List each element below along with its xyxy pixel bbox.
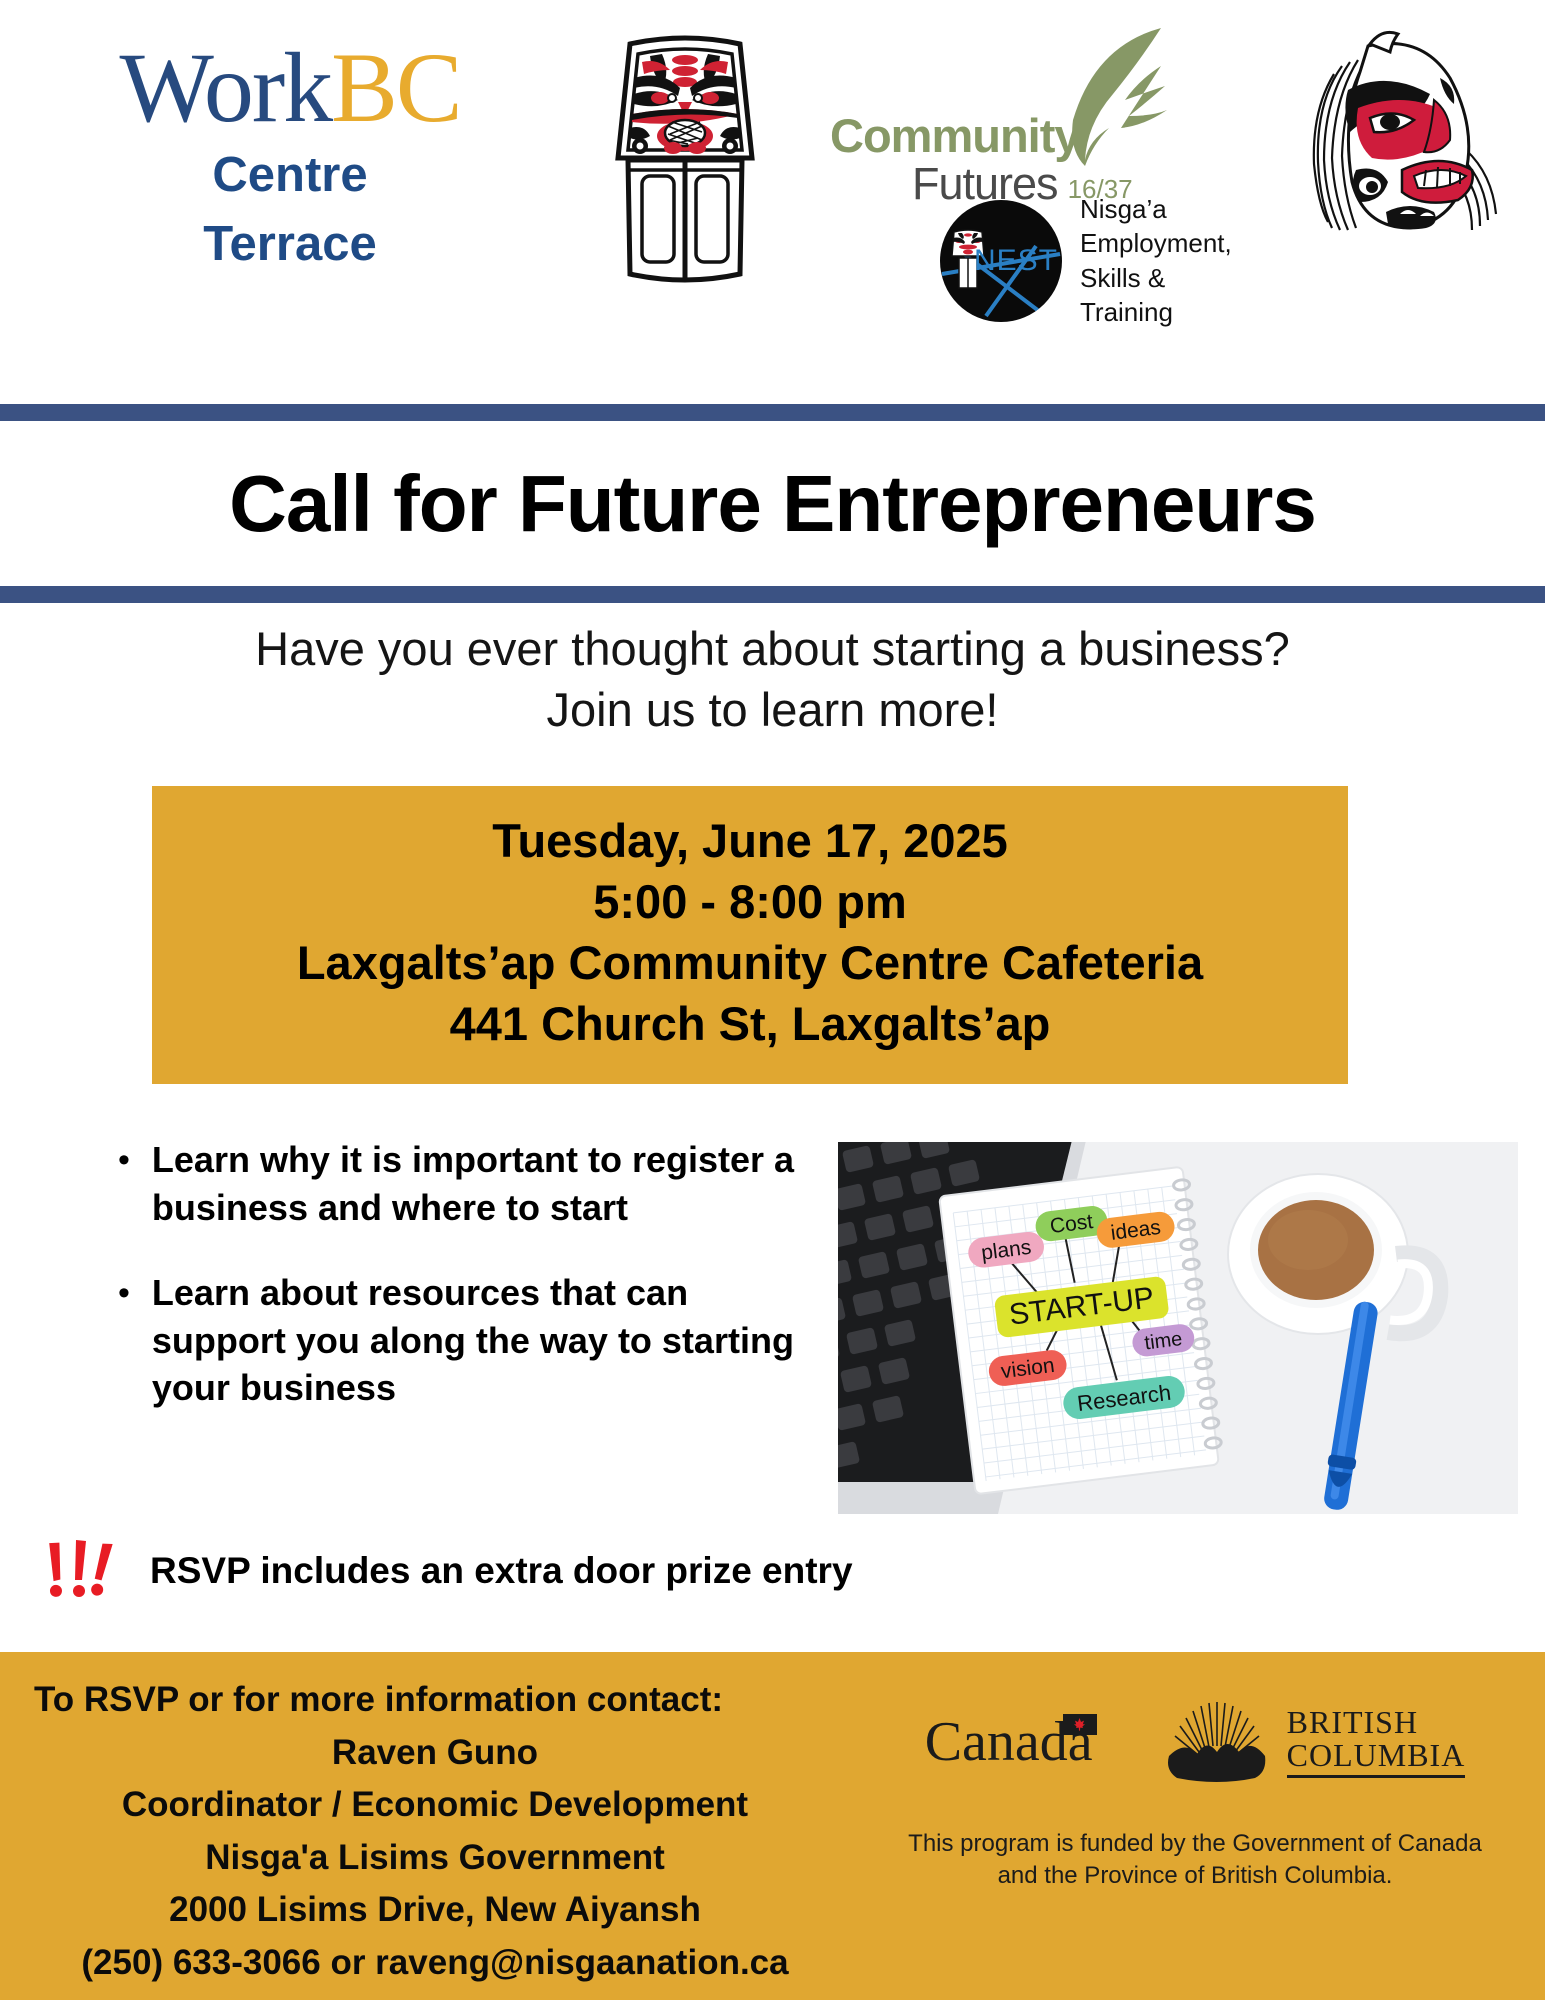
footer-contact-block: To RSVP or for more information contact:… bbox=[20, 1674, 850, 1989]
canada-flag-icon bbox=[1063, 1714, 1097, 1735]
event-date: Tuesday, June 17, 2025 bbox=[172, 810, 1328, 871]
poster-root: WorkBC Centre Terrace bbox=[0, 0, 1545, 2000]
contact-line-role: Coordinator / Economic Development bbox=[20, 1779, 850, 1832]
nest-line2: Employment, bbox=[1080, 226, 1232, 260]
bullet-list: • Learn why it is important to register … bbox=[118, 1136, 818, 1450]
intro-text: Have you ever thought about starting a b… bbox=[0, 618, 1545, 740]
nest-org-name: Nisga’a Employment, Skills & Training bbox=[1080, 192, 1232, 329]
header: WorkBC Centre Terrace bbox=[0, 0, 1545, 400]
contact-line-address: 2000 Lisims Drive, New Aiyansh bbox=[20, 1884, 850, 1937]
page-title-wrap: Call for Future Entrepreneurs bbox=[0, 421, 1545, 586]
footer: To RSVP or for more information contact:… bbox=[0, 1652, 1545, 2000]
event-details-box: Tuesday, June 17, 2025 5:00 - 8:00 pm La… bbox=[152, 786, 1348, 1084]
funding-note: This program is funded by the Government… bbox=[860, 1828, 1530, 1893]
contact-line-heading: To RSVP or for more information contact: bbox=[20, 1674, 850, 1727]
page-title: Call for Future Entrepreneurs bbox=[229, 458, 1316, 550]
nest-line1: Nisga’a bbox=[1080, 192, 1232, 226]
contact-line-org: Nisga'a Lisims Government bbox=[20, 1832, 850, 1885]
rsvp-note-row: RSVP includes an extra door prize entry bbox=[34, 1540, 853, 1602]
canada-wordmark: Canada bbox=[925, 1710, 1093, 1774]
nest-line3: Skills & bbox=[1080, 261, 1232, 295]
workbc-centre-label: Centre bbox=[55, 144, 525, 207]
funding-note-line-2: and the Province of British Columbia. bbox=[860, 1860, 1530, 1892]
workbc-bc-text: BC bbox=[331, 32, 460, 143]
nisgaa-mask-icon bbox=[1290, 22, 1515, 262]
nest-circle-badge: NEST bbox=[940, 200, 1062, 322]
workbc-wordmark: WorkBC bbox=[55, 38, 525, 138]
bc-sun-mountain-icon bbox=[1163, 1694, 1271, 1791]
title-band-bottom bbox=[0, 586, 1545, 603]
bc-line-1: BRITISH bbox=[1287, 1706, 1466, 1739]
nisgaa-totem-crest-icon bbox=[600, 30, 770, 290]
rsvp-note-text: RSVP includes an extra door prize entry bbox=[150, 1550, 853, 1592]
event-address: 441 Church St, Laxgalts’ap bbox=[172, 993, 1328, 1054]
exclamation-marks-icon bbox=[34, 1540, 120, 1602]
title-band-top bbox=[0, 404, 1545, 421]
intro-line-2: Join us to learn more! bbox=[0, 679, 1545, 740]
contact-line-name: Raven Guno bbox=[20, 1727, 850, 1780]
intro-line-1: Have you ever thought about starting a b… bbox=[0, 618, 1545, 679]
list-item: • Learn about resources that can support… bbox=[118, 1269, 818, 1412]
footer-logos: Canada bbox=[860, 1682, 1530, 1893]
list-item: • Learn why it is important to register … bbox=[118, 1136, 818, 1231]
nest-acronym-label: NEST bbox=[974, 244, 1058, 278]
bc-government-logo: BRITISH COLUMBIA bbox=[1163, 1694, 1466, 1791]
bullet-text: Learn about resources that can support y… bbox=[152, 1269, 818, 1412]
bc-line-2: COLUMBIA bbox=[1287, 1739, 1466, 1778]
bc-wordmark: BRITISH COLUMBIA bbox=[1287, 1706, 1466, 1777]
workbc-logo: WorkBC Centre Terrace bbox=[55, 38, 525, 275]
bullet-text: Learn why it is important to register a … bbox=[152, 1136, 818, 1231]
startup-notebook-photo: Cost plans ideas START-UP time vision Re… bbox=[838, 1142, 1518, 1514]
nest-line4: Training bbox=[1080, 295, 1232, 329]
contact-line-phone-email: (250) 633-3066 or raveng@nisgaanation.ca bbox=[20, 1937, 850, 1990]
event-time: 5:00 - 8:00 pm bbox=[172, 871, 1328, 932]
nest-logo: NEST Nisga’a Employment, Skills & Traini… bbox=[940, 192, 1232, 329]
workbc-terrace-label: Terrace bbox=[55, 213, 525, 276]
event-venue: Laxgalts’ap Community Centre Cafeteria bbox=[172, 932, 1328, 993]
cf-community-label: Community bbox=[830, 112, 1133, 159]
funding-note-line-1: This program is funded by the Government… bbox=[860, 1828, 1530, 1860]
svg-text:time: time bbox=[1143, 1328, 1183, 1354]
community-futures-logo: Community Futures 16/37 bbox=[830, 32, 1160, 192]
bullet-dot-icon: • bbox=[118, 1269, 130, 1412]
workbc-work-text: Work bbox=[119, 32, 331, 143]
bullet-dot-icon: • bbox=[118, 1136, 130, 1231]
